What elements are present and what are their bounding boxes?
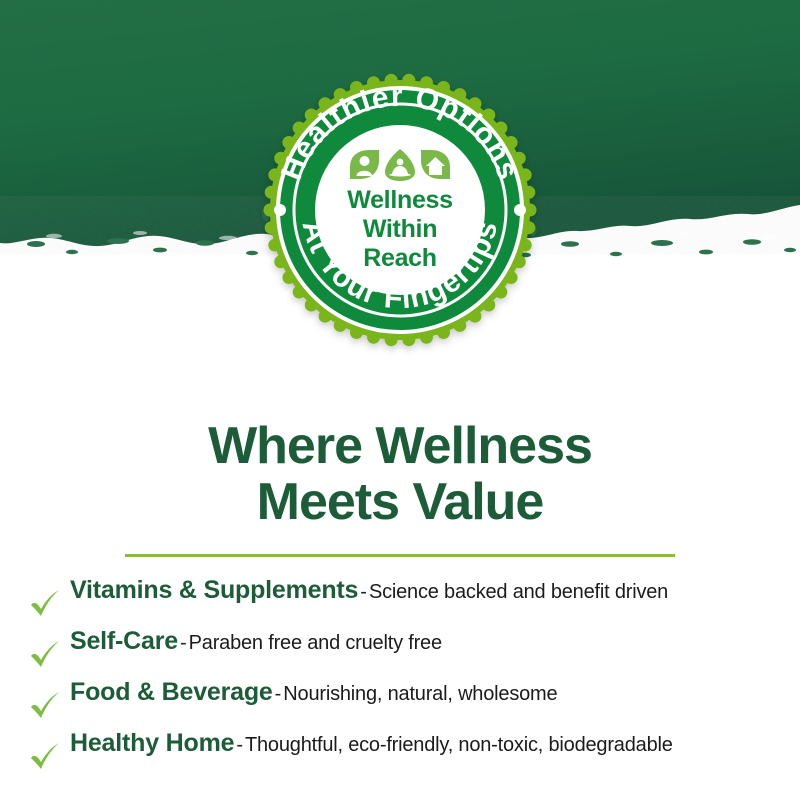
list-item: Healthy Home-Thoughtful, eco-friendly, n… [0,731,800,782]
list-item: Food & Beverage-Nourishing, natural, who… [0,680,800,731]
check-icon [28,740,62,774]
check-icon [28,587,62,621]
headline-line-2: Meets Value [0,474,800,530]
benefit-description: Science backed and benefit driven [369,581,668,603]
benefit-description: Paraben free and cruelty free [189,632,442,654]
promo-banner: Healthier Options At Your Fingertips [0,0,800,800]
badge-separator-dot-left [274,204,286,216]
list-item: Vitamins & Supplements-Science backed an… [0,578,800,629]
benefit-label: Healthy Home [70,729,234,757]
divider-rule [125,554,675,557]
page-title: Where Wellness Meets Value [0,418,800,530]
benefit-label: Vitamins & Supplements [70,576,358,604]
badge-artwork: Healthier Options At Your Fingertips [258,68,542,352]
badge-separator-dot-right [514,204,526,216]
list-item: Self-Care-Paraben free and cruelty free [0,629,800,680]
check-icon [28,689,62,723]
check-icon [28,638,62,672]
wellness-seal-badge: Healthier Options At Your Fingertips [258,68,542,352]
benefit-dash: - [178,632,189,654]
benefit-description: Thoughtful, eco-friendly, non-toxic, bio… [245,734,673,756]
benefit-dash: - [273,683,284,705]
benefits-list: Vitamins & Supplements-Science backed an… [0,578,800,782]
benefit-dash: - [358,581,369,603]
headline-line-1: Where Wellness [0,418,800,474]
benefit-description: Nourishing, natural, wholesome [283,683,557,705]
benefit-label: Self-Care [70,627,178,655]
benefit-label: Food & Beverage [70,678,273,706]
benefit-dash: - [234,734,245,756]
